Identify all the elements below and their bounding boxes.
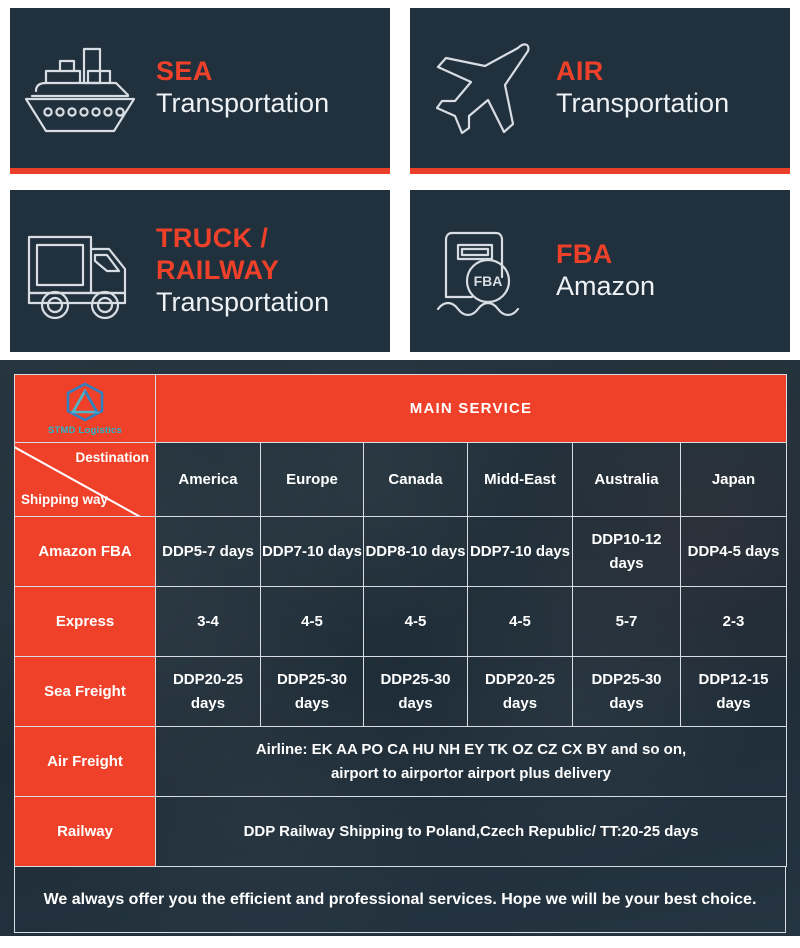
column-header-japan: Japan [681, 443, 787, 517]
air-freight-line-1: Airline: EK AA PO CA HU NH EY TK OZ CZ C… [156, 738, 786, 761]
cell-sea-freight-japan: DDP12-15 days [681, 657, 787, 727]
cell-express-canada: 4-5 [364, 587, 468, 657]
card-subtitle: Transportation [556, 88, 729, 120]
cell-air-freight-note: Airline: EK AA PO CA HU NH EY TK OZ CZ C… [156, 727, 787, 797]
card-title: TRUCK / RAILWAY [156, 223, 390, 287]
card-body: FBA FBA Amazon [410, 190, 790, 352]
table-row: Amazon FBA DDP5-7 days DDP7-10 days DDP8… [15, 517, 787, 587]
card-body: TRUCK / RAILWAY Transportation [10, 190, 390, 352]
service-card-fba[interactable]: FBA FBA Amazon [400, 182, 800, 360]
column-header-america: America [156, 443, 261, 517]
main-service-table: STMD Logistics MAIN SERVICE Destination … [14, 374, 787, 867]
truck-icon [10, 219, 150, 323]
ship-icon [10, 39, 150, 137]
service-card-truck[interactable]: TRUCK / RAILWAY Transportation [0, 182, 400, 360]
column-header-europe: Europe [261, 443, 364, 517]
row-header-air-freight: Air Freight [15, 727, 156, 797]
cell-amazon-fba-canada: DDP8-10 days [364, 517, 468, 587]
destination-label: Destination [75, 448, 149, 469]
svg-text:FBA: FBA [474, 273, 503, 289]
table-row: Express 3-4 4-5 4-5 4-5 5-7 2-3 [15, 587, 787, 657]
card-text: FBA Amazon [550, 239, 655, 303]
cell-amazon-fba-europe: DDP7-10 days [261, 517, 364, 587]
footer-message: We always offer you the efficient and pr… [14, 867, 786, 933]
card-text: TRUCK / RAILWAY Transportation [150, 223, 390, 319]
cell-express-midd-east: 4-5 [468, 587, 573, 657]
hexagon-triangle-logo [62, 381, 108, 423]
cell-sea-freight-australia: DDP25-30 days [573, 657, 681, 727]
service-cards: SEA Transportation AIR Transportation [0, 0, 800, 360]
table-header-row: Destination Shipping way America Europe … [15, 443, 787, 517]
card-body: AIR Transportation [410, 8, 790, 174]
card-text: AIR Transportation [550, 56, 729, 120]
cell-amazon-fba-japan: DDP4-5 days [681, 517, 787, 587]
column-header-midd-east: Midd-East [468, 443, 573, 517]
card-title: SEA [156, 56, 329, 88]
card-text: SEA Transportation [150, 56, 329, 120]
cell-sea-freight-america: DDP20-25 days [156, 657, 261, 727]
row-header-express: Express [15, 587, 156, 657]
cell-amazon-fba-america: DDP5-7 days [156, 517, 261, 587]
cell-express-japan: 2-3 [681, 587, 787, 657]
row-header-railway: Railway [15, 797, 156, 867]
card-subtitle: Transportation [156, 88, 329, 120]
table-row: Air Freight Airline: EK AA PO CA HU NH E… [15, 727, 787, 797]
axis-corner-cell: Destination Shipping way [15, 443, 156, 517]
cell-amazon-fba-australia: DDP10-12 days [573, 517, 681, 587]
cell-sea-freight-midd-east: DDP20-25 days [468, 657, 573, 727]
fba-icon: FBA [410, 219, 550, 323]
cell-express-america: 3-4 [156, 587, 261, 657]
column-header-canada: Canada [364, 443, 468, 517]
brand-name: STMD Logistics [15, 424, 155, 439]
cell-express-australia: 5-7 [573, 587, 681, 657]
row-header-sea-freight: Sea Freight [15, 657, 156, 727]
card-title: AIR [556, 56, 729, 88]
main-service-table-panel: STMD Logistics MAIN SERVICE Destination … [0, 360, 800, 936]
column-header-australia: Australia [573, 443, 681, 517]
row-header-amazon-fba: Amazon FBA [15, 517, 156, 587]
card-subtitle: Transportation [156, 287, 390, 319]
cell-express-europe: 4-5 [261, 587, 364, 657]
table-title: MAIN SERVICE [156, 375, 787, 443]
air-freight-line-2: airport to airportor airport plus delive… [156, 762, 786, 785]
card-body: SEA Transportation [10, 8, 390, 174]
shipping-way-label: Shipping way [21, 490, 108, 511]
cell-sea-freight-canada: DDP25-30 days [364, 657, 468, 727]
service-card-sea[interactable]: SEA Transportation [0, 0, 400, 182]
card-subtitle: Amazon [556, 271, 655, 303]
airplane-icon [410, 38, 550, 138]
table-title-row: STMD Logistics MAIN SERVICE [15, 375, 787, 443]
card-title: FBA [556, 239, 655, 271]
service-card-air[interactable]: AIR Transportation [400, 0, 800, 182]
table-row: Sea Freight DDP20-25 days DDP25-30 days … [15, 657, 787, 727]
brand-logo[interactable]: STMD Logistics [15, 375, 156, 443]
table-row: Railway DDP Railway Shipping to Poland,C… [15, 797, 787, 867]
cell-sea-freight-europe: DDP25-30 days [261, 657, 364, 727]
cell-railway-note: DDP Railway Shipping to Poland,Czech Rep… [156, 797, 787, 867]
cell-amazon-fba-midd-east: DDP7-10 days [468, 517, 573, 587]
